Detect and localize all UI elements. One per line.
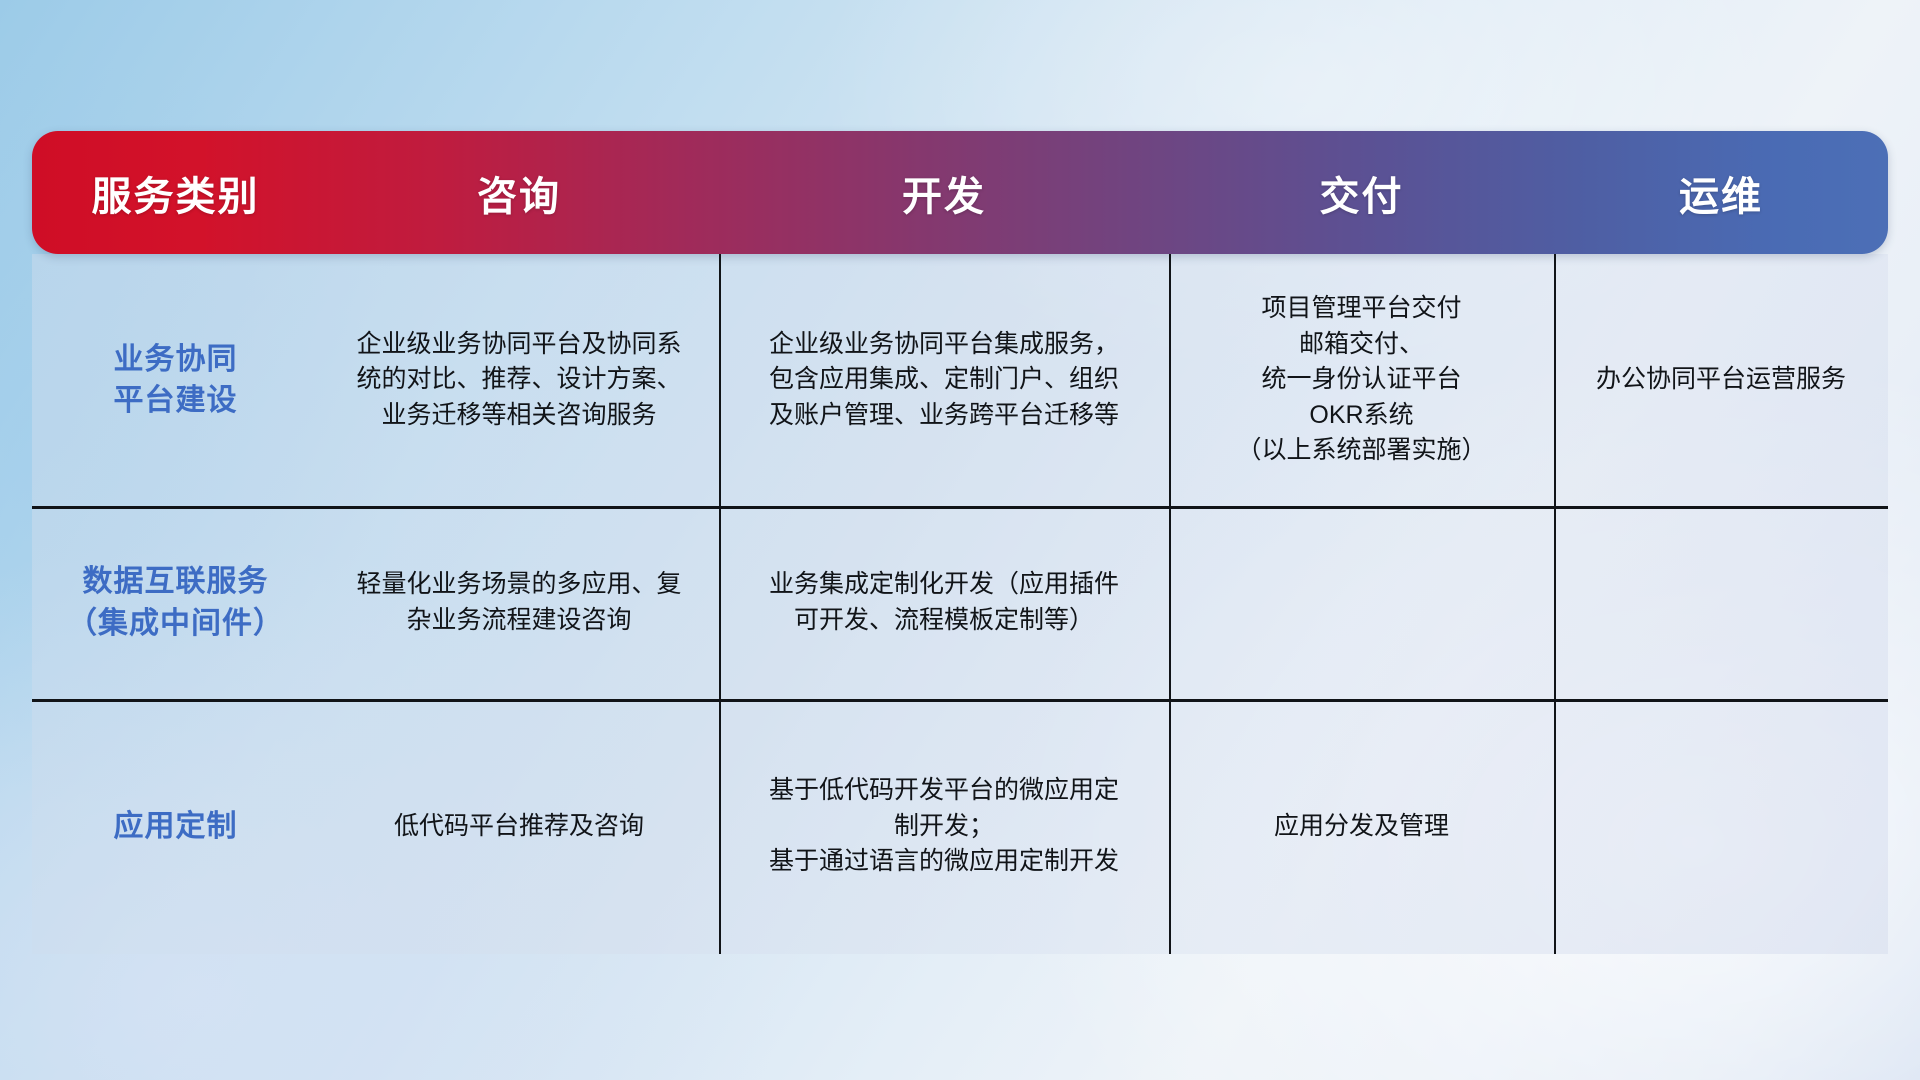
cell-operations-row2 bbox=[1554, 506, 1888, 699]
cell-consulting-row1: 企业级业务协同平台及协同系 统的对比、推荐、设计方案、 业务迁移等相关咨询服务 bbox=[319, 254, 719, 506]
cell-delivery-row1: 项目管理平台交付 邮箱交付、 统一身份认证平台 OKR系统 （以上系统部署实施） bbox=[1169, 254, 1554, 506]
row-divider-1 bbox=[32, 506, 1888, 509]
cell-text: 低代码平台推荐及咨询 bbox=[394, 809, 644, 845]
table-row: 数据互联服务 （集成中间件） 轻量化业务场景的多应用、复 杂业务流程建设咨询 业… bbox=[32, 506, 1888, 699]
cell-consulting-row3: 低代码平台推荐及咨询 bbox=[319, 699, 719, 954]
cell-delivery-row2 bbox=[1169, 506, 1554, 699]
row-label-app-customization: 应用定制 bbox=[32, 699, 319, 954]
column-header-operations: 运维 bbox=[1554, 131, 1888, 254]
row-label-text: 数据互联服务 （集成中间件） bbox=[67, 561, 284, 644]
cell-text: 企业级业务协同平台集成服务， 包含应用集成、定制门户、组织 及账户管理、业务跨平… bbox=[769, 327, 1119, 434]
cell-development-row2: 业务集成定制化开发（应用插件 可开发、流程模板定制等） bbox=[719, 506, 1169, 699]
table-header-row: 服务类别 咨询 开发 交付 运维 bbox=[32, 131, 1888, 254]
service-category-table: 服务类别 咨询 开发 交付 运维 业务协同 平台建设 企业级业务协同平台及协同系… bbox=[32, 131, 1888, 954]
table-row: 应用定制 低代码平台推荐及咨询 基于低代码开发平台的微应用定 制开发； 基于通过… bbox=[32, 699, 1888, 954]
cell-text: 企业级业务协同平台及协同系 统的对比、推荐、设计方案、 业务迁移等相关咨询服务 bbox=[356, 327, 681, 434]
cell-operations-row1: 办公协同平台运营服务 bbox=[1554, 254, 1888, 506]
cell-text: 轻量化业务场景的多应用、复 杂业务流程建设咨询 bbox=[356, 567, 681, 638]
column-header-development: 开发 bbox=[719, 131, 1169, 254]
cell-text: 基于低代码开发平台的微应用定 制开发； 基于通过语言的微应用定制开发 bbox=[769, 773, 1119, 880]
row-label-text: 业务协同 平台建设 bbox=[114, 339, 238, 422]
cell-consulting-row2: 轻量化业务场景的多应用、复 杂业务流程建设咨询 bbox=[319, 506, 719, 699]
column-divider-delivery-operations bbox=[1554, 254, 1556, 954]
column-header-delivery: 交付 bbox=[1169, 131, 1554, 254]
cell-text: 业务集成定制化开发（应用插件 可开发、流程模板定制等） bbox=[769, 567, 1119, 638]
row-divider-2 bbox=[32, 699, 1888, 702]
cell-text: 应用分发及管理 bbox=[1274, 809, 1449, 845]
row-label-business-collaboration: 业务协同 平台建设 bbox=[32, 254, 319, 506]
cell-operations-row3 bbox=[1554, 699, 1888, 954]
column-header-category: 服务类别 bbox=[32, 131, 319, 254]
row-label-data-interconnect: 数据互联服务 （集成中间件） bbox=[32, 506, 319, 699]
cell-development-row1: 企业级业务协同平台集成服务， 包含应用集成、定制门户、组织 及账户管理、业务跨平… bbox=[719, 254, 1169, 506]
table-row: 业务协同 平台建设 企业级业务协同平台及协同系 统的对比、推荐、设计方案、 业务… bbox=[32, 254, 1888, 506]
column-divider-development-delivery bbox=[1169, 254, 1171, 954]
cell-development-row3: 基于低代码开发平台的微应用定 制开发； 基于通过语言的微应用定制开发 bbox=[719, 699, 1169, 954]
column-header-consulting: 咨询 bbox=[319, 131, 719, 254]
table-body: 业务协同 平台建设 企业级业务协同平台及协同系 统的对比、推荐、设计方案、 业务… bbox=[32, 254, 1888, 954]
cell-text: 办公协同平台运营服务 bbox=[1596, 362, 1846, 398]
cell-text: 项目管理平台交付 邮箱交付、 统一身份认证平台 OKR系统 （以上系统部署实施） bbox=[1236, 291, 1486, 469]
column-divider-consulting-development bbox=[719, 254, 721, 954]
cell-delivery-row3: 应用分发及管理 bbox=[1169, 699, 1554, 954]
row-label-text: 应用定制 bbox=[114, 806, 238, 847]
